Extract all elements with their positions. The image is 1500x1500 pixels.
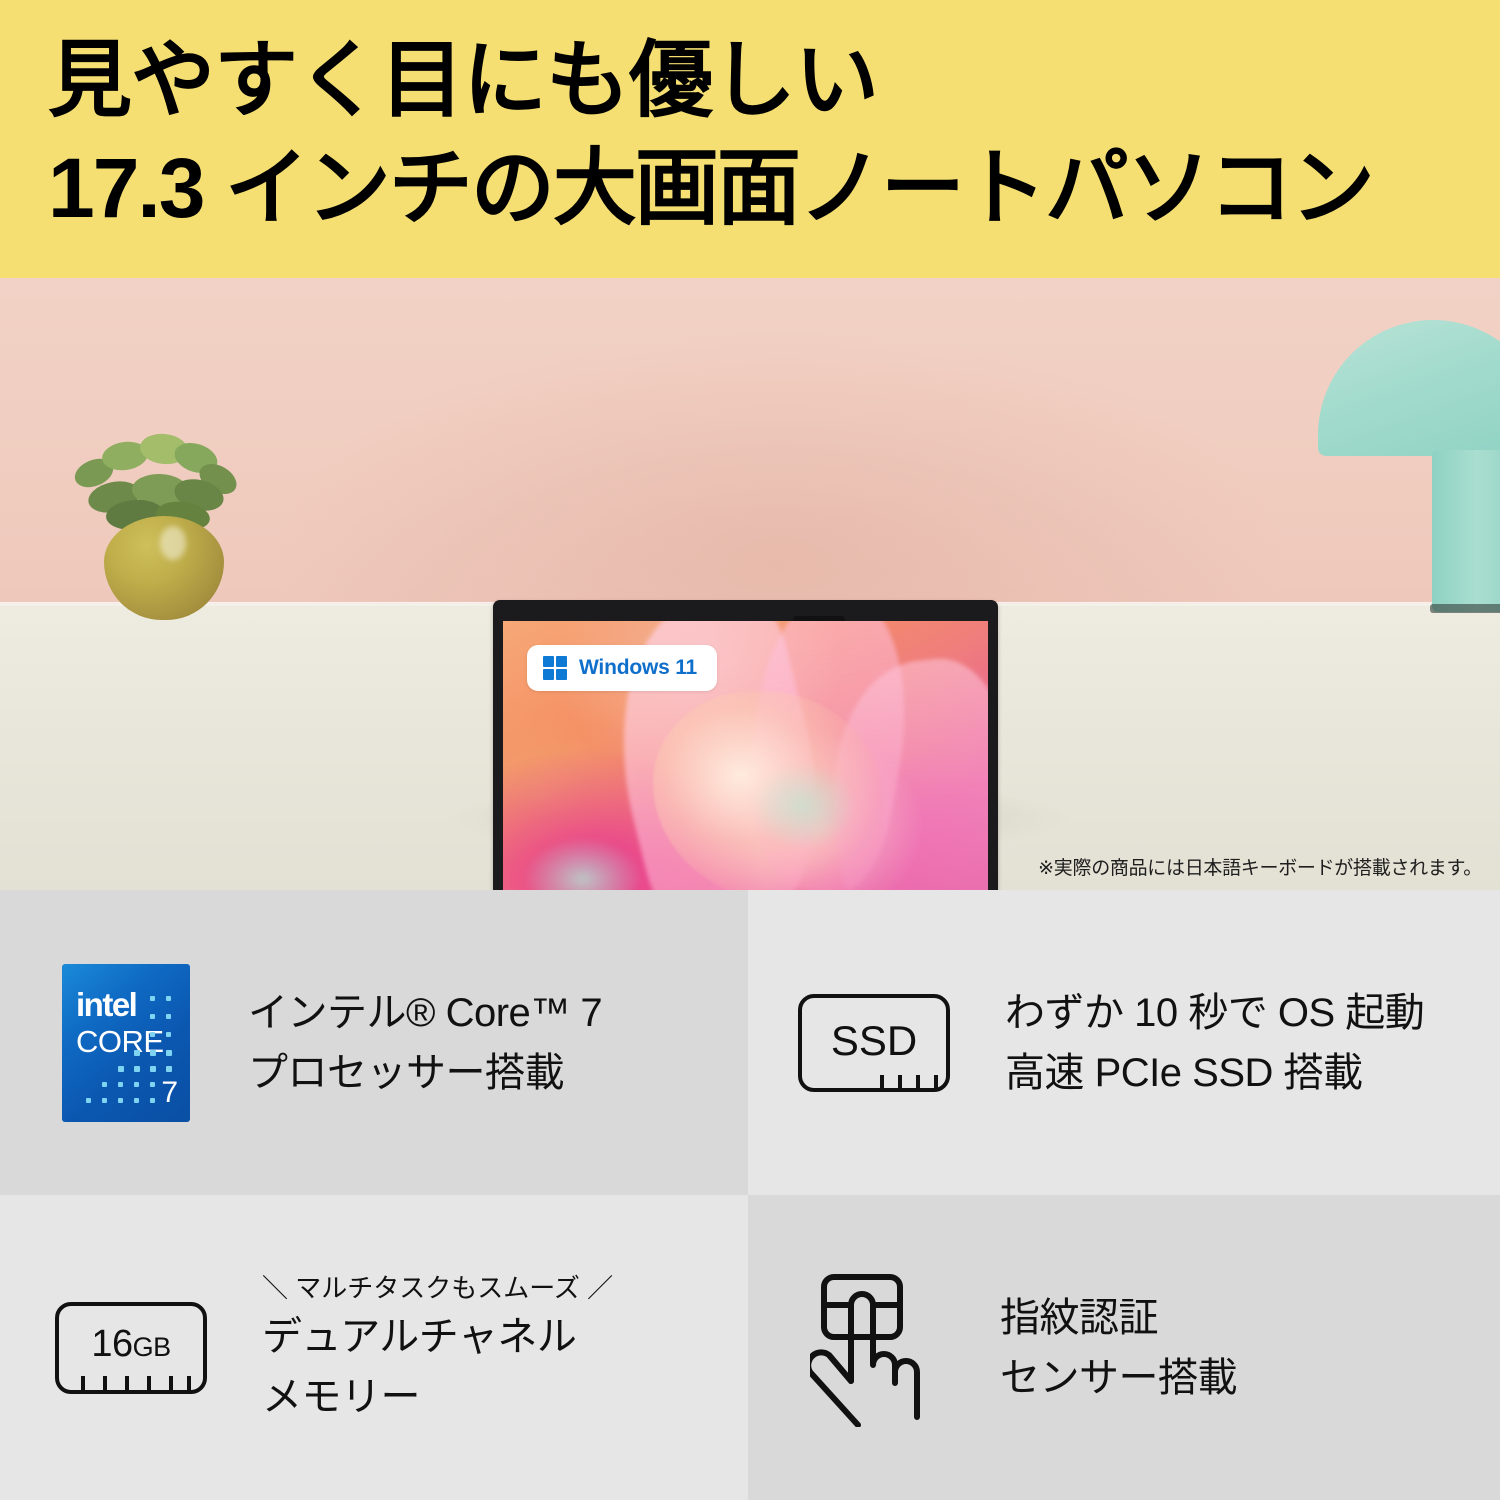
feature-line-1: わずか 10 秒で OS 起動 — [1005, 983, 1424, 1043]
windows-11-label: Windows 11 — [579, 656, 697, 680]
fingerprint-sensor-icon — [810, 1269, 928, 1427]
feature-cell-storage: SSD わずか 10 秒で OS 起動 高速 PCIe SSD 搭載 — [748, 890, 1500, 1195]
ssd-icon-label: SSD — [831, 1017, 917, 1065]
photo-footnote: ※実際の商品には日本語キーボードが搭載されます。 — [1038, 853, 1482, 880]
lamp-stem — [1432, 450, 1500, 612]
feature-line-1: インテル® Core™ 7 — [248, 983, 602, 1043]
memory-module-icon: 16GB — [55, 1302, 207, 1394]
laptop-screen: Windows 11 — [503, 621, 988, 890]
intel-tier-label: 7 — [161, 1078, 178, 1108]
feature-cell-processor: intel CORE 7 — [0, 890, 748, 1195]
headline-line-2: 17.3 インチの大画面ノートパソコン — [48, 134, 1373, 242]
ssd-chip-icon: SSD — [798, 994, 950, 1092]
windows-logo-icon — [543, 656, 567, 680]
feature-cell-fingerprint: 指紋認証 センサー搭載 — [748, 1195, 1500, 1500]
intel-core-7-badge-icon: intel CORE 7 — [62, 964, 190, 1122]
feature-text-storage: わずか 10 秒で OS 起動 高速 PCIe SSD 搭載 — [1005, 983, 1424, 1103]
feature-line-2: メモリー — [262, 1367, 613, 1427]
feature-line-1: デュアルチャネル — [262, 1307, 613, 1367]
feature-grid: intel CORE 7 — [0, 890, 1500, 1500]
feature-line-2: 高速 PCIe SSD 搭載 — [1005, 1043, 1424, 1103]
product-feature-banner: 見やすく目にも優しい 17.3 インチの大画面ノートパソコン — [0, 0, 1500, 1500]
feature-accent-text: ＼ マルチタスクもスムーズ ／ — [262, 1269, 613, 1307]
feature-text-fingerprint: 指紋認証 センサー搭載 — [1000, 1288, 1237, 1408]
memory-icon-label: 16GB — [91, 1323, 170, 1366]
laptop: Windows 11 hp — [420, 578, 1100, 890]
intel-brand-label: intel — [76, 988, 136, 1021]
plant-pot-highlight — [160, 526, 186, 560]
feature-line-1: 指紋認証 — [1000, 1288, 1237, 1348]
feature-cell-memory: 16GB ＼ マルチタスクもスムーズ ／ デュアルチャネル メモリー — [0, 1195, 748, 1500]
headline-line-1: 見やすく目にも優しい — [48, 26, 1373, 134]
lamp-base — [1430, 604, 1500, 613]
feature-text-processor: インテル® Core™ 7 プロセッサー搭載 — [248, 983, 602, 1103]
header-banner: 見やすく目にも優しい 17.3 インチの大画面ノートパソコン — [0, 0, 1500, 278]
feature-line-2: プロセッサー搭載 — [248, 1043, 602, 1103]
windows-11-badge: Windows 11 — [527, 645, 717, 691]
feature-line-2: センサー搭載 — [1000, 1348, 1237, 1408]
hero-photo: Windows 11 hp — [0, 278, 1500, 890]
wallpaper-mint-glow-2 — [748, 761, 858, 851]
potted-plant — [48, 408, 278, 628]
headline: 見やすく目にも優しい 17.3 インチの大画面ノートパソコン — [48, 26, 1373, 242]
feature-text-memory: ＼ マルチタスクもスムーズ ／ デュアルチャネル メモリー — [262, 1269, 613, 1427]
